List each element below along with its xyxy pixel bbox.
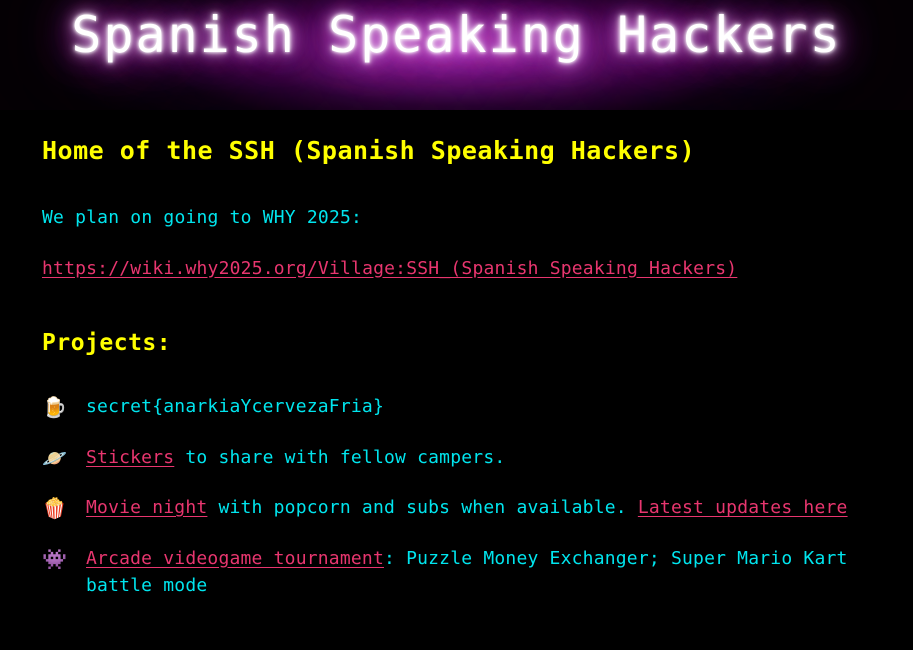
main-content: Home of the SSH (Spanish Speaking Hacker… (0, 110, 913, 599)
stickers-link[interactable]: Stickers (86, 447, 174, 468)
wiki-link-line: https://wiki.why2025.org/Village:SSH_(Sp… (42, 255, 893, 282)
list-item: 🪐 Stickers to share with fellow campers. (42, 445, 893, 472)
ringed-planet-emoji: 🪐 (42, 445, 67, 471)
page-root: Spanish Speaking Hackers Home of the SSH… (0, 0, 913, 650)
project-text: with popcorn and subs when available. (207, 497, 637, 518)
list-item: 🍿 Movie night with popcorn and subs when… (42, 495, 893, 522)
project-text: secret{anarkiaYcervezaFria} (86, 396, 384, 417)
page-heading: Home of the SSH (Spanish Speaking Hacker… (42, 132, 893, 170)
alien-monster-emoji: 👾 (42, 546, 67, 572)
intro-text: We plan on going to WHY 2025: (42, 204, 893, 231)
projects-list: 🍺 secret{anarkiaYcervezaFria} 🪐 Stickers… (42, 394, 893, 599)
popcorn-emoji: 🍿 (42, 495, 67, 521)
latest-updates-link[interactable]: Latest updates here (638, 497, 848, 518)
site-title: Spanish Speaking Hackers (0, 6, 913, 64)
list-item: 👾 Arcade videogame tournament: Puzzle Mo… (42, 546, 893, 599)
arcade-tournament-link[interactable]: Arcade videogame tournament (86, 548, 384, 569)
list-item: 🍺 secret{anarkiaYcervezaFria} (42, 394, 893, 421)
beer-mug-emoji: 🍺 (42, 394, 67, 420)
neon-banner: Spanish Speaking Hackers (0, 0, 913, 110)
movie-night-link[interactable]: Movie night (86, 497, 207, 518)
project-text: to share with fellow campers. (174, 447, 505, 468)
projects-heading: Projects: (42, 326, 893, 361)
wiki-link[interactable]: https://wiki.why2025.org/Village:SSH_(Sp… (42, 258, 737, 279)
